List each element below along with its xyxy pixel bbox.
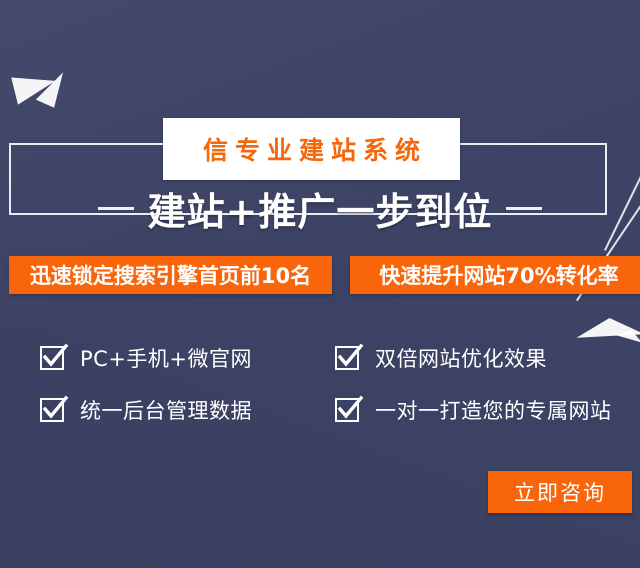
feature-item-label: 一对一打造您的专属网站 [375, 395, 612, 425]
badge: 信专业建站系统 [163, 118, 460, 180]
highlight-strip-ranking: 迅速锁定搜索引擎首页前10名 [9, 256, 332, 294]
feature-item-label: 统一后台管理数据 [80, 395, 252, 425]
promo-banner: 信专业建站系统 建站+推广一步到位 迅速锁定搜索引擎首页前10名 快速提升网站7… [0, 0, 640, 568]
page-title: 建站+推广一步到位 [148, 181, 493, 236]
feature-item: 双倍网站优化效果 [335, 343, 640, 373]
badge-label: 信专业建站系统 [196, 131, 427, 167]
checkmark-icon [40, 398, 64, 422]
checkmark-icon [40, 346, 64, 370]
checkmark-icon [335, 398, 359, 422]
feature-list: PC+手机+微官网 双倍网站优化效果 统一后台管理数据 [40, 332, 640, 436]
headline-dash-left [98, 207, 134, 210]
headline-row: 建站+推广一步到位 [0, 181, 640, 236]
feature-item-label: 双倍网站优化效果 [375, 343, 547, 373]
feature-item: 统一后台管理数据 [40, 395, 335, 425]
highlight-strip-ranking-label: 迅速锁定搜索引擎首页前10名 [30, 260, 311, 290]
checkmark-icon [335, 346, 359, 370]
consult-now-button-label: 立即咨询 [514, 477, 606, 507]
feature-item-label: PC+手机+微官网 [80, 343, 252, 373]
feature-item: 一对一打造您的专属网站 [335, 395, 640, 425]
highlight-strip-conversion-label: 快速提升网站70%转化率 [379, 260, 618, 290]
consult-now-button[interactable]: 立即咨询 [488, 471, 632, 513]
feature-item: PC+手机+微官网 [40, 343, 335, 373]
highlight-strip-conversion: 快速提升网站70%转化率 [350, 256, 640, 294]
headline-dash-right [506, 207, 542, 210]
